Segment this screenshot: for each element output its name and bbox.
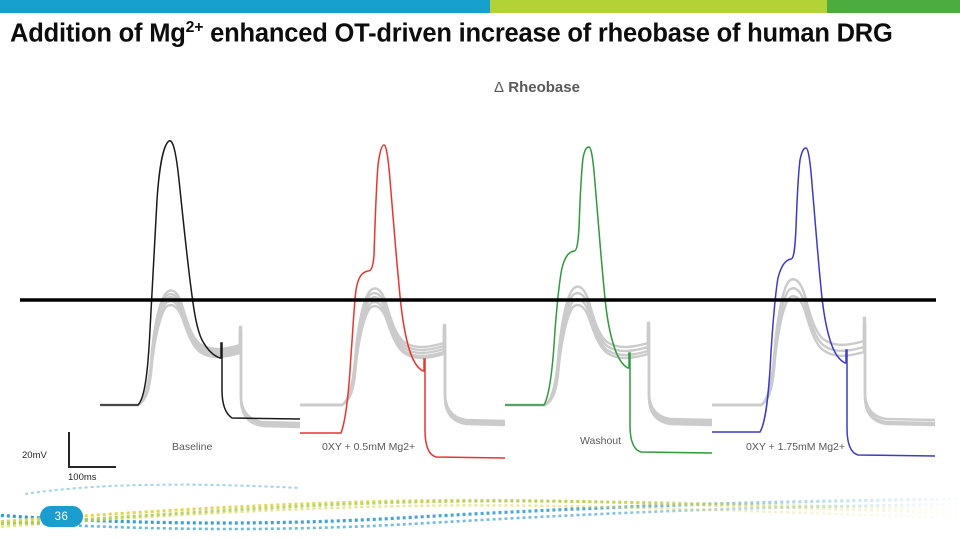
- footer-decoration: [0, 480, 960, 540]
- footer-wave-yellow-2: [0, 505, 960, 527]
- electrophysiology-plot: [0, 0, 960, 540]
- footer-wave-yellow: [0, 500, 960, 522]
- scale-bar-vertical: [68, 432, 70, 468]
- subthreshold-family-mg05: [300, 288, 505, 425]
- trace-label-washout: Washout: [580, 435, 621, 447]
- subthreshold-family-baseline: [100, 290, 300, 427]
- subthreshold-family-washout: [505, 287, 712, 425]
- action-potential-mg175: [712, 148, 935, 456]
- footer-wave-arc: [25, 485, 300, 494]
- trace-group-baseline: [100, 141, 300, 427]
- footer-wave-blue-2: [0, 504, 960, 529]
- slide-canvas: Addition of Mg2+ enhanced OT-driven incr…: [0, 0, 960, 540]
- trace-label-baseline: Baseline: [172, 441, 212, 453]
- action-potential-baseline: [100, 141, 300, 419]
- trace-group-mg175: [712, 148, 935, 456]
- scale-bar-voltage-label: 20mV: [22, 450, 47, 461]
- trace-label-mg05: 0XY + 0.5mM Mg2+: [322, 441, 415, 453]
- footer-wave-green: [0, 501, 960, 524]
- slide-number-badge: 36: [40, 506, 83, 527]
- scale-bar-horizontal: [68, 466, 116, 468]
- footer-wave-blue: [0, 499, 960, 523]
- trace-label-mg175: 0XY + 1.75mM Mg2+: [746, 441, 845, 453]
